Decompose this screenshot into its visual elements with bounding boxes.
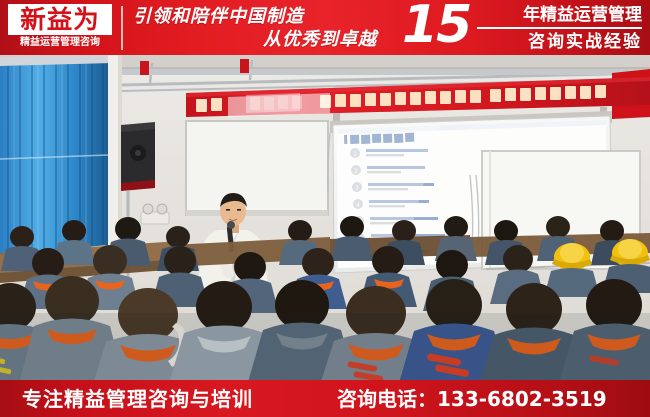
training-photo: 1 2 3 4 xyxy=(0,55,650,380)
photo-svg: 1 2 3 4 xyxy=(0,55,650,380)
whiteboard xyxy=(186,121,328,216)
footer-tagline: 专注精益管理咨询与培训 xyxy=(22,387,253,411)
slogan-line-2: 从优秀到卓越 xyxy=(263,29,377,51)
years-number: 15 xyxy=(402,0,470,53)
logo-mark-box: 新益为 xyxy=(8,4,112,35)
header-divider xyxy=(121,6,123,50)
years-line-2: 咨询实战经验 xyxy=(477,30,642,54)
curtain-left xyxy=(0,55,112,255)
years-rule xyxy=(477,27,642,29)
wall-speaker xyxy=(121,122,155,191)
company-logo: 新益为 精益运营管理咨询 xyxy=(8,4,112,51)
footer-phone: 咨询电话：133-6802-3519 xyxy=(337,387,607,411)
footer-bar: 专注精益管理咨询与培训 咨询电话：133-6802-3519 xyxy=(0,380,650,417)
logo-subtitle: 精益运营管理咨询 xyxy=(8,37,112,49)
slogan-line-1: 引领和陪伴中国制造 xyxy=(133,6,304,28)
years-line-1: 年精益运营管理 xyxy=(477,3,642,27)
years-text-block: 年精益运营管理 咨询实战经验 xyxy=(477,3,642,54)
promotional-banner-image: 新益为 精益运营管理咨询 引领和陪伴中国制造 从优秀到卓越 15 年精益运营管理… xyxy=(0,0,650,417)
header-experience: 15 年精益运营管理 咨询实战经验 xyxy=(394,1,644,54)
header-slogan: 引领和陪伴中国制造 从优秀到卓越 xyxy=(133,4,383,52)
logo-mark-text: 新益为 xyxy=(9,6,111,34)
header-bar: 新益为 精益运营管理咨询 引领和陪伴中国制造 从优秀到卓越 15 年精益运营管理… xyxy=(0,0,650,55)
